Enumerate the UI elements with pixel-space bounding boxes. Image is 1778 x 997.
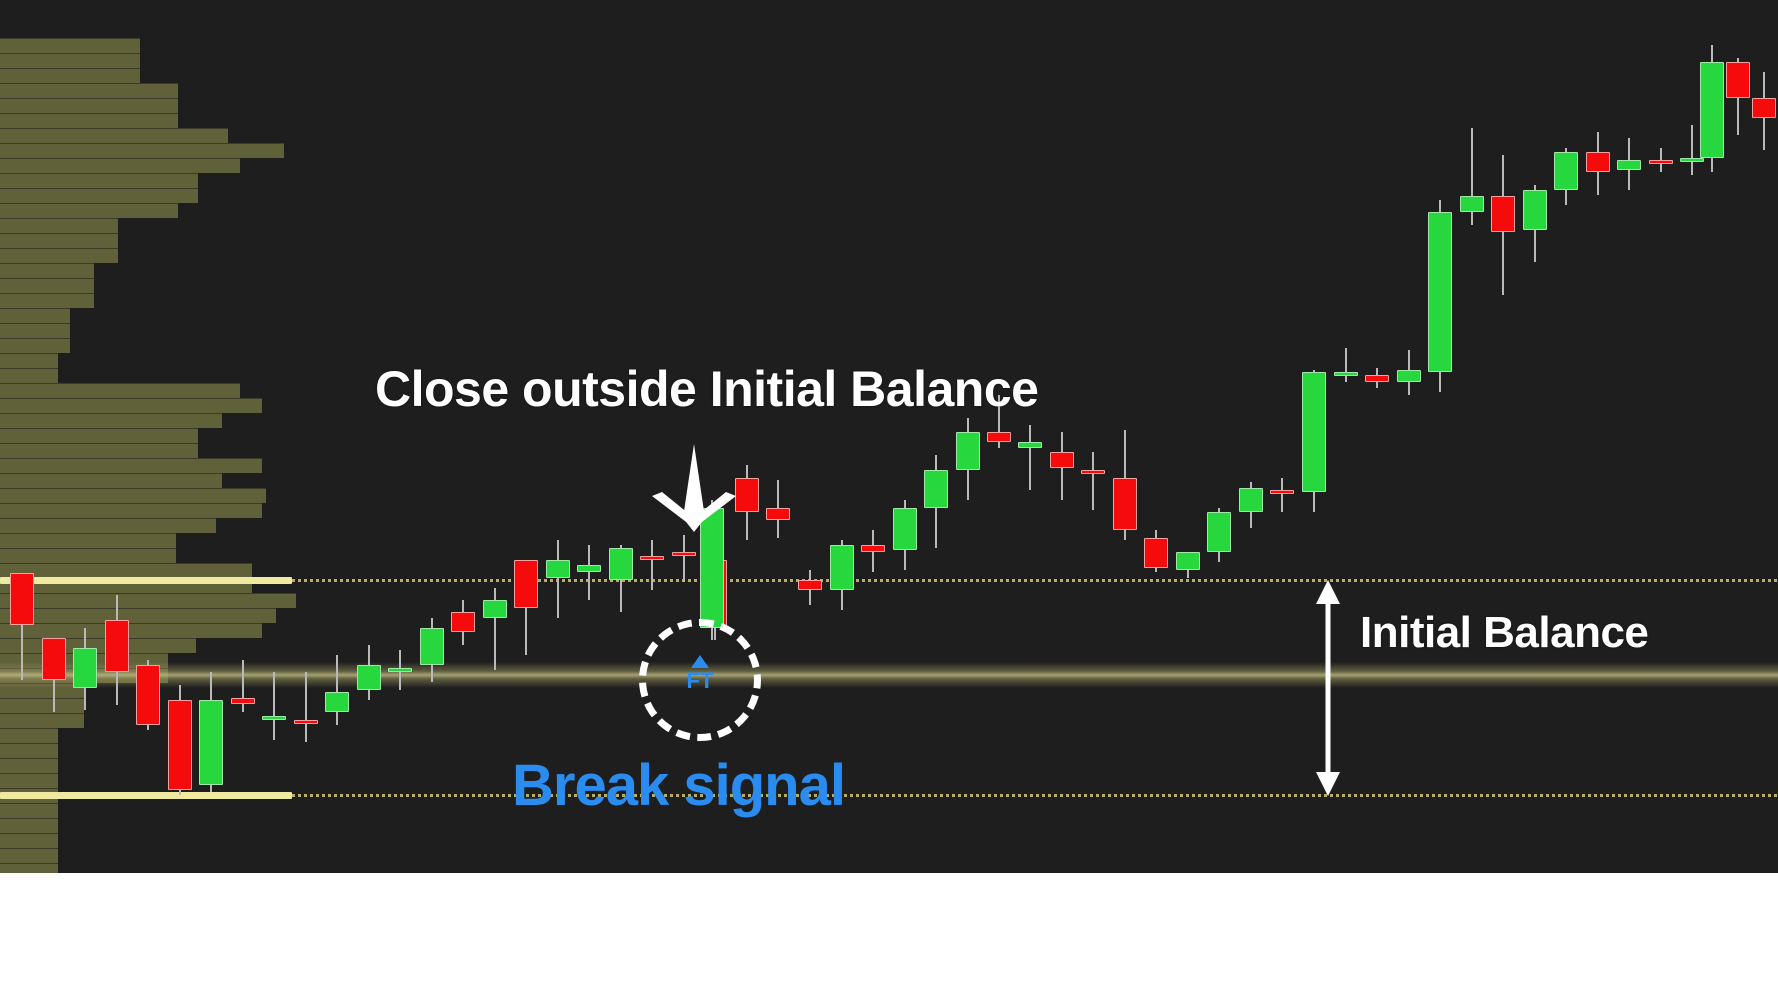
candlestick [577,0,601,873]
candle-body [956,432,980,470]
candle-body [893,508,917,550]
candlestick [42,0,66,873]
candle-body [1428,212,1452,372]
double-headed-vertical-arrow-icon [1308,580,1348,796]
candle-body [1144,538,1168,568]
candle-body [357,665,381,690]
candlestick [1144,0,1168,873]
candle-wick [273,672,275,740]
candlestick [1270,0,1294,873]
candle-body [1365,375,1389,382]
candlestick [1491,0,1515,873]
candle-wick [1029,425,1031,490]
candle-body [798,580,822,590]
candle-body [1397,370,1421,382]
candle-body [514,560,538,608]
candle-body [546,560,570,578]
bottom-margin [0,873,1778,997]
candlestick [105,0,129,873]
candlestick [1176,0,1200,873]
volume-profile-row [0,488,266,503]
candle-body [420,628,444,665]
candle-body [1302,372,1326,492]
candlestick [1081,0,1105,873]
candlestick [1700,0,1724,873]
candle-body [609,548,633,580]
candle-body [1554,152,1578,190]
candle-wick [588,545,590,600]
candle-body [640,556,664,560]
candle-wick [336,655,338,725]
candle-body [73,648,97,688]
candle-wick [1691,125,1693,175]
candlestick [1726,0,1750,873]
candle-body [766,508,790,520]
candlestick-chart-canvas[interactable]: FT Close outside Initial Balance Initial… [0,0,1778,873]
break-signal-marker[interactable]: FT [680,655,720,715]
candle-body [1176,552,1200,570]
screenshot-root: FT Close outside Initial Balance Initial… [0,0,1778,997]
candlestick [514,0,538,873]
candlestick [73,0,97,873]
candlestick [136,0,160,873]
candle-body [1586,152,1610,172]
candle-body [10,573,34,625]
candlestick [262,0,286,873]
candle-wick [683,535,685,582]
candle-body [1617,160,1641,170]
candle-body [924,470,948,508]
candle-body [168,700,192,790]
candlestick [231,0,255,873]
candlestick [672,0,696,873]
candlestick [735,0,759,873]
candlestick [1207,0,1231,873]
candle-body [1050,452,1074,468]
candle-body [1491,196,1515,232]
candle-body [1207,512,1231,552]
candlestick [987,0,1011,873]
candle-body [1334,372,1358,376]
candle-body [388,668,412,672]
candlestick [420,0,444,873]
signal-marker-label: FT [680,670,720,692]
candlestick [1586,0,1610,873]
candlestick [798,0,822,873]
candle-body [987,432,1011,442]
candlestick [483,0,507,873]
candlestick [546,0,570,873]
candlestick [168,0,192,873]
candlestick [294,0,318,873]
candle-body [1752,98,1776,118]
candle-body [325,692,349,712]
break-signal-label: Break signal [512,752,845,819]
candlestick [1523,0,1547,873]
candle-body [672,552,696,556]
candle-body [1239,488,1263,512]
down-arrow-icon [648,440,740,532]
candle-body [294,720,318,724]
candle-body [1113,478,1137,530]
candlestick [1365,0,1389,873]
candlestick [199,0,223,873]
page-title: Close outside Initial Balance [375,360,1038,418]
initial-balance-label: Initial Balance [1360,608,1648,658]
candle-wick [1281,478,1283,512]
candlestick [700,0,724,873]
candlestick [451,0,475,873]
candle-body [1726,62,1750,98]
candlestick [893,0,917,873]
candle-wick [557,540,559,618]
candlestick [830,0,854,873]
candle-wick [242,660,244,712]
candlestick [1752,0,1776,873]
candlestick [956,0,980,873]
candle-body [1700,62,1724,158]
candlestick [10,0,34,873]
candlestick [325,0,349,873]
candlestick [924,0,948,873]
candle-body [451,612,475,632]
candle-body [1081,470,1105,474]
candle-body [231,698,255,704]
candlestick [388,0,412,873]
candle-body [1523,190,1547,230]
candlestick [1460,0,1484,873]
candlestick [1113,0,1137,873]
candle-wick [305,672,307,742]
candle-body [1460,196,1484,212]
candlestick [1397,0,1421,873]
candlestick [1554,0,1578,873]
candlestick [1018,0,1042,873]
candle-body [1018,442,1042,448]
candle-body [577,565,601,572]
candlestick [1428,0,1452,873]
candlestick [609,0,633,873]
candle-wick [651,540,653,590]
up-triangle-icon [691,655,709,668]
candlestick [766,0,790,873]
candle-body [1649,160,1673,164]
candle-body [861,545,885,552]
candlestick [1050,0,1074,873]
candle-wick [1092,452,1094,510]
candle-body [199,700,223,785]
candle-body [105,620,129,672]
candle-body [136,665,160,725]
candlestick [1617,0,1641,873]
candlestick [1239,0,1263,873]
candle-body [483,600,507,618]
candle-body [1270,490,1294,494]
candle-body [42,638,66,680]
candle-body [262,716,286,720]
candlestick [640,0,664,873]
candlestick [1649,0,1673,873]
candle-wick [1345,348,1347,382]
candlestick [357,0,381,873]
candlestick [861,0,885,873]
candle-body [830,545,854,590]
